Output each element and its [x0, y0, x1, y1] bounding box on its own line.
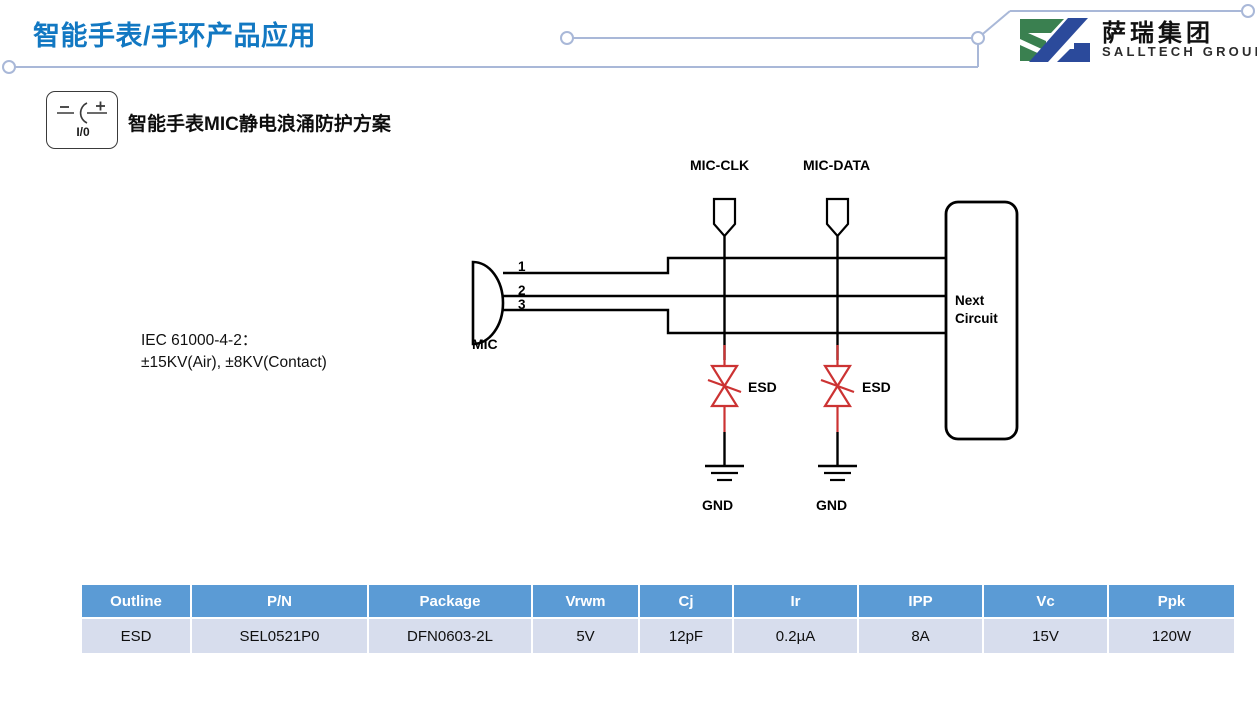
label-mic-clk: MIC-CLK [690, 157, 749, 173]
table-header-ppk: Ppk [1109, 585, 1234, 617]
cell-ir: 0.2µA [734, 619, 857, 653]
esd-diode-1 [708, 366, 741, 406]
cell-pn: SEL0521P0 [192, 619, 367, 653]
table-header-outline: Outline [82, 585, 190, 617]
table-header-ipp: IPP [859, 585, 982, 617]
cell-outline: ESD [82, 619, 190, 653]
gnd-symbol-2 [818, 466, 857, 480]
cell-ppk: 120W [1109, 619, 1234, 653]
wire-pin1 [503, 258, 1018, 273]
label-mic: MIC [472, 336, 498, 352]
table-header-cj: Cj [640, 585, 732, 617]
circuit-diagram [0, 0, 1257, 560]
label-next-circuit-line2: Circuit [955, 310, 998, 328]
table-row: ESD SEL0521P0 DFN0603-2L 5V 12pF 0.2µA 8… [82, 619, 1234, 653]
label-esd-2: ESD [862, 379, 891, 395]
wire-pin3 [503, 310, 1018, 333]
testpoint-mic-clk-icon [714, 199, 735, 236]
pin-label-1: 1 [518, 259, 526, 274]
table-header-vrwm: Vrwm [533, 585, 638, 617]
cell-vrwm: 5V [533, 619, 638, 653]
label-gnd-1: GND [702, 497, 733, 513]
table-header-row: Outline P/N Package Vrwm Cj Ir IPP Vc Pp… [82, 585, 1234, 617]
mic-symbol [473, 262, 503, 344]
table-header-ir: Ir [734, 585, 857, 617]
testpoint-mic-data-icon [827, 199, 848, 236]
label-next-circuit: Next Circuit [955, 292, 998, 328]
table-header-package: Package [369, 585, 531, 617]
cell-cj: 12pF [640, 619, 732, 653]
cell-ipp: 8A [859, 619, 982, 653]
label-esd-1: ESD [748, 379, 777, 395]
esd-diode-2 [821, 366, 854, 406]
label-gnd-2: GND [816, 497, 847, 513]
label-mic-data: MIC-DATA [803, 157, 870, 173]
pin-label-2: 2 [518, 283, 526, 298]
table-header-vc: Vc [984, 585, 1107, 617]
cell-vc: 15V [984, 619, 1107, 653]
cell-package: DFN0603-2L [369, 619, 531, 653]
gnd-symbol-1 [705, 466, 744, 480]
table-header-pn: P/N [192, 585, 367, 617]
label-next-circuit-line1: Next [955, 292, 998, 310]
pin-label-3: 3 [518, 297, 526, 312]
spec-table: Outline P/N Package Vrwm Cj Ir IPP Vc Pp… [80, 583, 1236, 655]
